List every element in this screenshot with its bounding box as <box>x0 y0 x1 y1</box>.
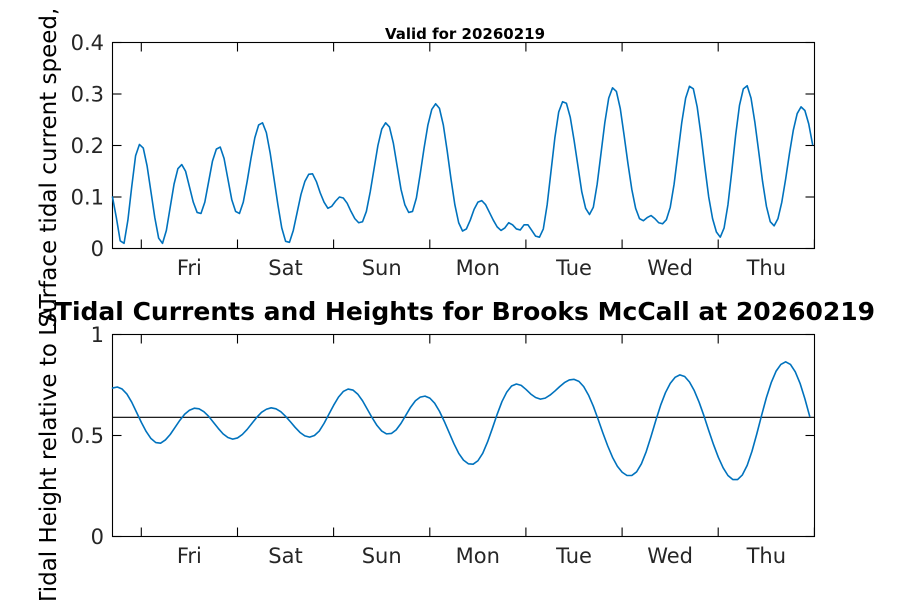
top-ytick-0-1: 0.1 <box>71 186 104 210</box>
subplot-tidal-height: 0 0.5 1 Fri <box>71 323 815 568</box>
bottom-xtick-thu: Thu <box>746 544 786 568</box>
top-xtick-thu: Thu <box>746 256 786 280</box>
subplot-title-valid-for: Valid for 20260219 <box>385 25 545 43</box>
bottom-xtick-sun: Sun <box>362 544 402 568</box>
top-xtick-mon: Mon <box>456 256 500 280</box>
bottom-plot-frame <box>113 335 815 537</box>
top-xtick-wed: Wed <box>647 256 693 280</box>
top-xtick-fri: Fri <box>177 256 202 280</box>
top-ytick-0-4: 0.4 <box>71 31 104 55</box>
bottom-xtick-sat: Sat <box>268 544 302 568</box>
top-y-axis-label: Surface tidal current speed, kn <box>36 0 62 328</box>
surface-current-series-line <box>113 86 813 244</box>
top-xtick-tue: Tue <box>555 256 592 280</box>
bottom-xtick-fri: Fri <box>177 544 202 568</box>
bottom-ytick-1: 1 <box>91 323 104 347</box>
bottom-ytick-0-5: 0.5 <box>71 424 104 448</box>
top-x-tick-labels: Fri Sat Sun Mon Tue Wed Thu <box>177 256 786 280</box>
tidal-height-series-line <box>113 362 810 480</box>
top-x-ticks <box>141 43 814 249</box>
bottom-y-tick-labels: 0 0.5 1 <box>71 323 104 549</box>
tidal-figure: Valid for 20260219 0 0.1 0.2 0.3 <box>0 0 900 600</box>
top-xtick-sun: Sun <box>362 256 402 280</box>
bottom-y-ticks <box>113 335 815 537</box>
top-xtick-sat: Sat <box>268 256 302 280</box>
page-title: Tidal Currents and Heights for Brooks Mc… <box>55 297 875 326</box>
top-y-ticks <box>113 43 815 249</box>
top-ytick-0: 0 <box>91 237 104 261</box>
bottom-ytick-0: 0 <box>91 525 104 549</box>
subplot-surface-current: Valid for 20260219 0 0.1 0.2 0.3 <box>71 25 815 280</box>
figure-canvas: Valid for 20260219 0 0.1 0.2 0.3 <box>0 0 900 600</box>
bottom-x-tick-labels: Fri Sat Sun Mon Tue Wed Thu <box>177 544 786 568</box>
bottom-y-axis-label: Tidal Height relative to LAT <box>36 293 62 600</box>
top-ytick-0-3: 0.3 <box>71 83 104 107</box>
top-ytick-0-2: 0.2 <box>71 134 104 158</box>
bottom-xtick-mon: Mon <box>456 544 500 568</box>
bottom-xtick-wed: Wed <box>647 544 693 568</box>
bottom-xtick-tue: Tue <box>555 544 592 568</box>
top-y-tick-labels: 0 0.1 0.2 0.3 0.4 <box>71 31 104 261</box>
top-plot-frame <box>113 43 815 249</box>
